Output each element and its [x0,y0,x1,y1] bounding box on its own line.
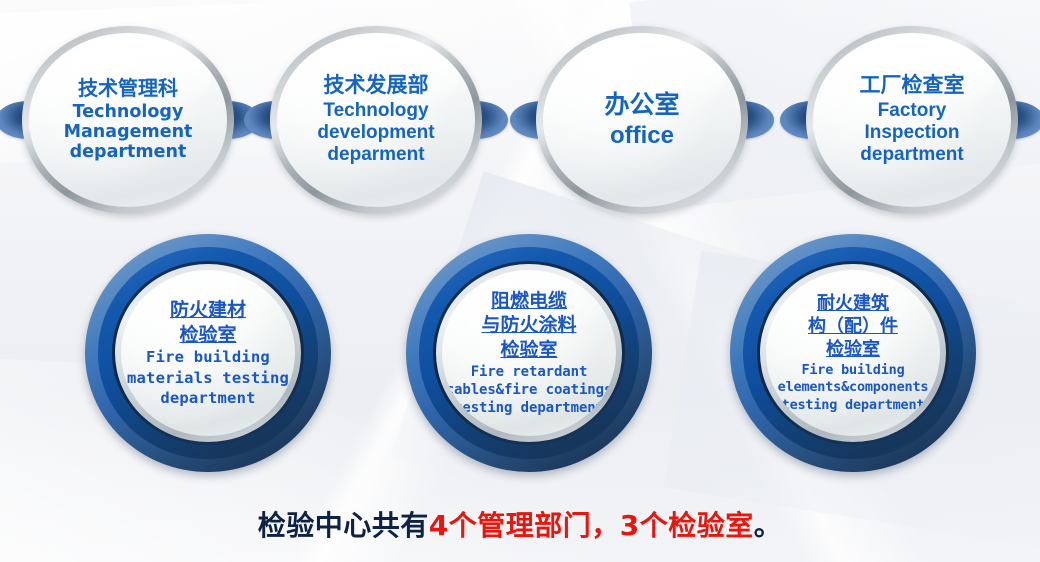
department-label: 工厂检查室 Factory Inspection department [852,74,973,165]
slide-canvas: 技术管理科 Technology Management department 技… [0,0,1040,562]
department-label: 技术管理科 Technology Management department [56,77,201,162]
department-label-en-2: Inspection [860,122,965,144]
laboratory-label-en-3: testing department [446,399,613,417]
department-node-office[interactable]: 办公室 office [536,26,748,214]
department-label-en-3: deparment [317,144,434,166]
department-oval[interactable]: 工厂检查室 Factory Inspection department [806,26,1018,214]
laboratory-face[interactable]: 耐火建筑 构（配）件 检验室 Fire building elements&co… [766,270,940,436]
department-oval-face: 技术管理科 Technology Management department [29,33,227,207]
laboratory-label: 阻燃电缆 与防火涂料 检验室 Fire retardant cables&fir… [444,289,615,418]
department-oval[interactable]: 技术管理科 Technology Management department [22,26,234,214]
laboratory-label-cn-2: 检验室 [127,323,289,348]
laboratory-label-cn-2: 与防火涂料 [446,313,613,338]
department-label-en-3: department [64,142,193,162]
laboratory-label-en-1: Fire building [127,347,289,367]
department-label-cn: 技术发展部 [317,74,434,98]
laboratory-node-fire-retardant-cables[interactable]: 阻燃电缆 与防火涂料 检验室 Fire retardant cables&fir… [406,234,652,472]
department-label-en-1: Factory [860,100,965,122]
laboratory-label: 防火建材 检验室 Fire building materials testing… [125,298,291,408]
department-oval-face: 技术发展部 Technology development deparment [277,33,475,207]
department-label-en-1: Technology [317,100,434,122]
laboratory-label-en-3: department [127,388,289,408]
laboratory-label: 耐火建筑 构（配）件 检验室 Fire building elements&co… [776,292,931,415]
laboratory-label-cn-1: 耐火建筑 [778,292,929,315]
department-label: 办公室 office [596,91,687,150]
laboratory-label-en-2: elements&components [778,379,929,397]
laboratory-label-en-2: materials testing [127,368,289,388]
department-label-cn: 技术管理科 [64,77,193,100]
department-label-en-1: office [604,122,679,150]
caption-highlight: 4个管理部门，3个检验室 [429,509,754,542]
department-label-en-3: department [860,144,965,166]
laboratory-label-en-3: testing department [778,397,929,415]
laboratory-label-cn-3: 检验室 [446,338,613,363]
department-label-cn: 工厂检查室 [860,74,965,98]
department-node-technology-development[interactable]: 技术发展部 Technology development deparment [270,26,482,214]
summary-caption: 检验中心共有4个管理部门，3个检验室。 [0,504,1040,544]
laboratory-face[interactable]: 阻燃电缆 与防火涂料 检验室 Fire retardant cables&fir… [442,270,616,436]
department-label: 技术发展部 Technology development deparment [309,74,442,165]
laboratory-label-cn-3: 检验室 [778,338,929,361]
department-node-factory-inspection[interactable]: 工厂检查室 Factory Inspection department [806,26,1018,214]
department-oval-face: 工厂检查室 Factory Inspection department [813,33,1011,207]
laboratory-label-cn-1: 防火建材 [127,298,289,323]
department-oval-face: 办公室 office [543,33,741,207]
laboratory-label-en-1: Fire building [778,362,929,380]
laboratory-label-en-1: Fire retardant [446,363,613,381]
caption-lead: 检验中心共有 [258,509,429,542]
laboratory-label-en-2: cables&fire coatings [446,381,613,399]
department-label-cn: 办公室 [604,91,679,120]
laboratory-face[interactable]: 防火建材 检验室 Fire building materials testing… [121,270,295,436]
department-label-en-1: Technology [64,102,193,122]
laboratory-node-fire-building-elements[interactable]: 耐火建筑 构（配）件 检验室 Fire building elements&co… [730,234,976,472]
laboratory-node-fire-building-materials[interactable]: 防火建材 检验室 Fire building materials testing… [85,234,331,472]
department-oval[interactable]: 办公室 office [536,26,748,214]
department-label-en-2: development [317,122,434,144]
laboratory-label-cn-2: 构（配）件 [778,315,929,338]
laboratory-label-cn-1: 阻燃电缆 [446,289,613,314]
department-oval[interactable]: 技术发展部 Technology development deparment [270,26,482,214]
department-node-technology-management[interactable]: 技术管理科 Technology Management department [22,26,234,214]
caption-tail: 。 [754,509,783,542]
department-label-en-2: Management [64,122,193,142]
